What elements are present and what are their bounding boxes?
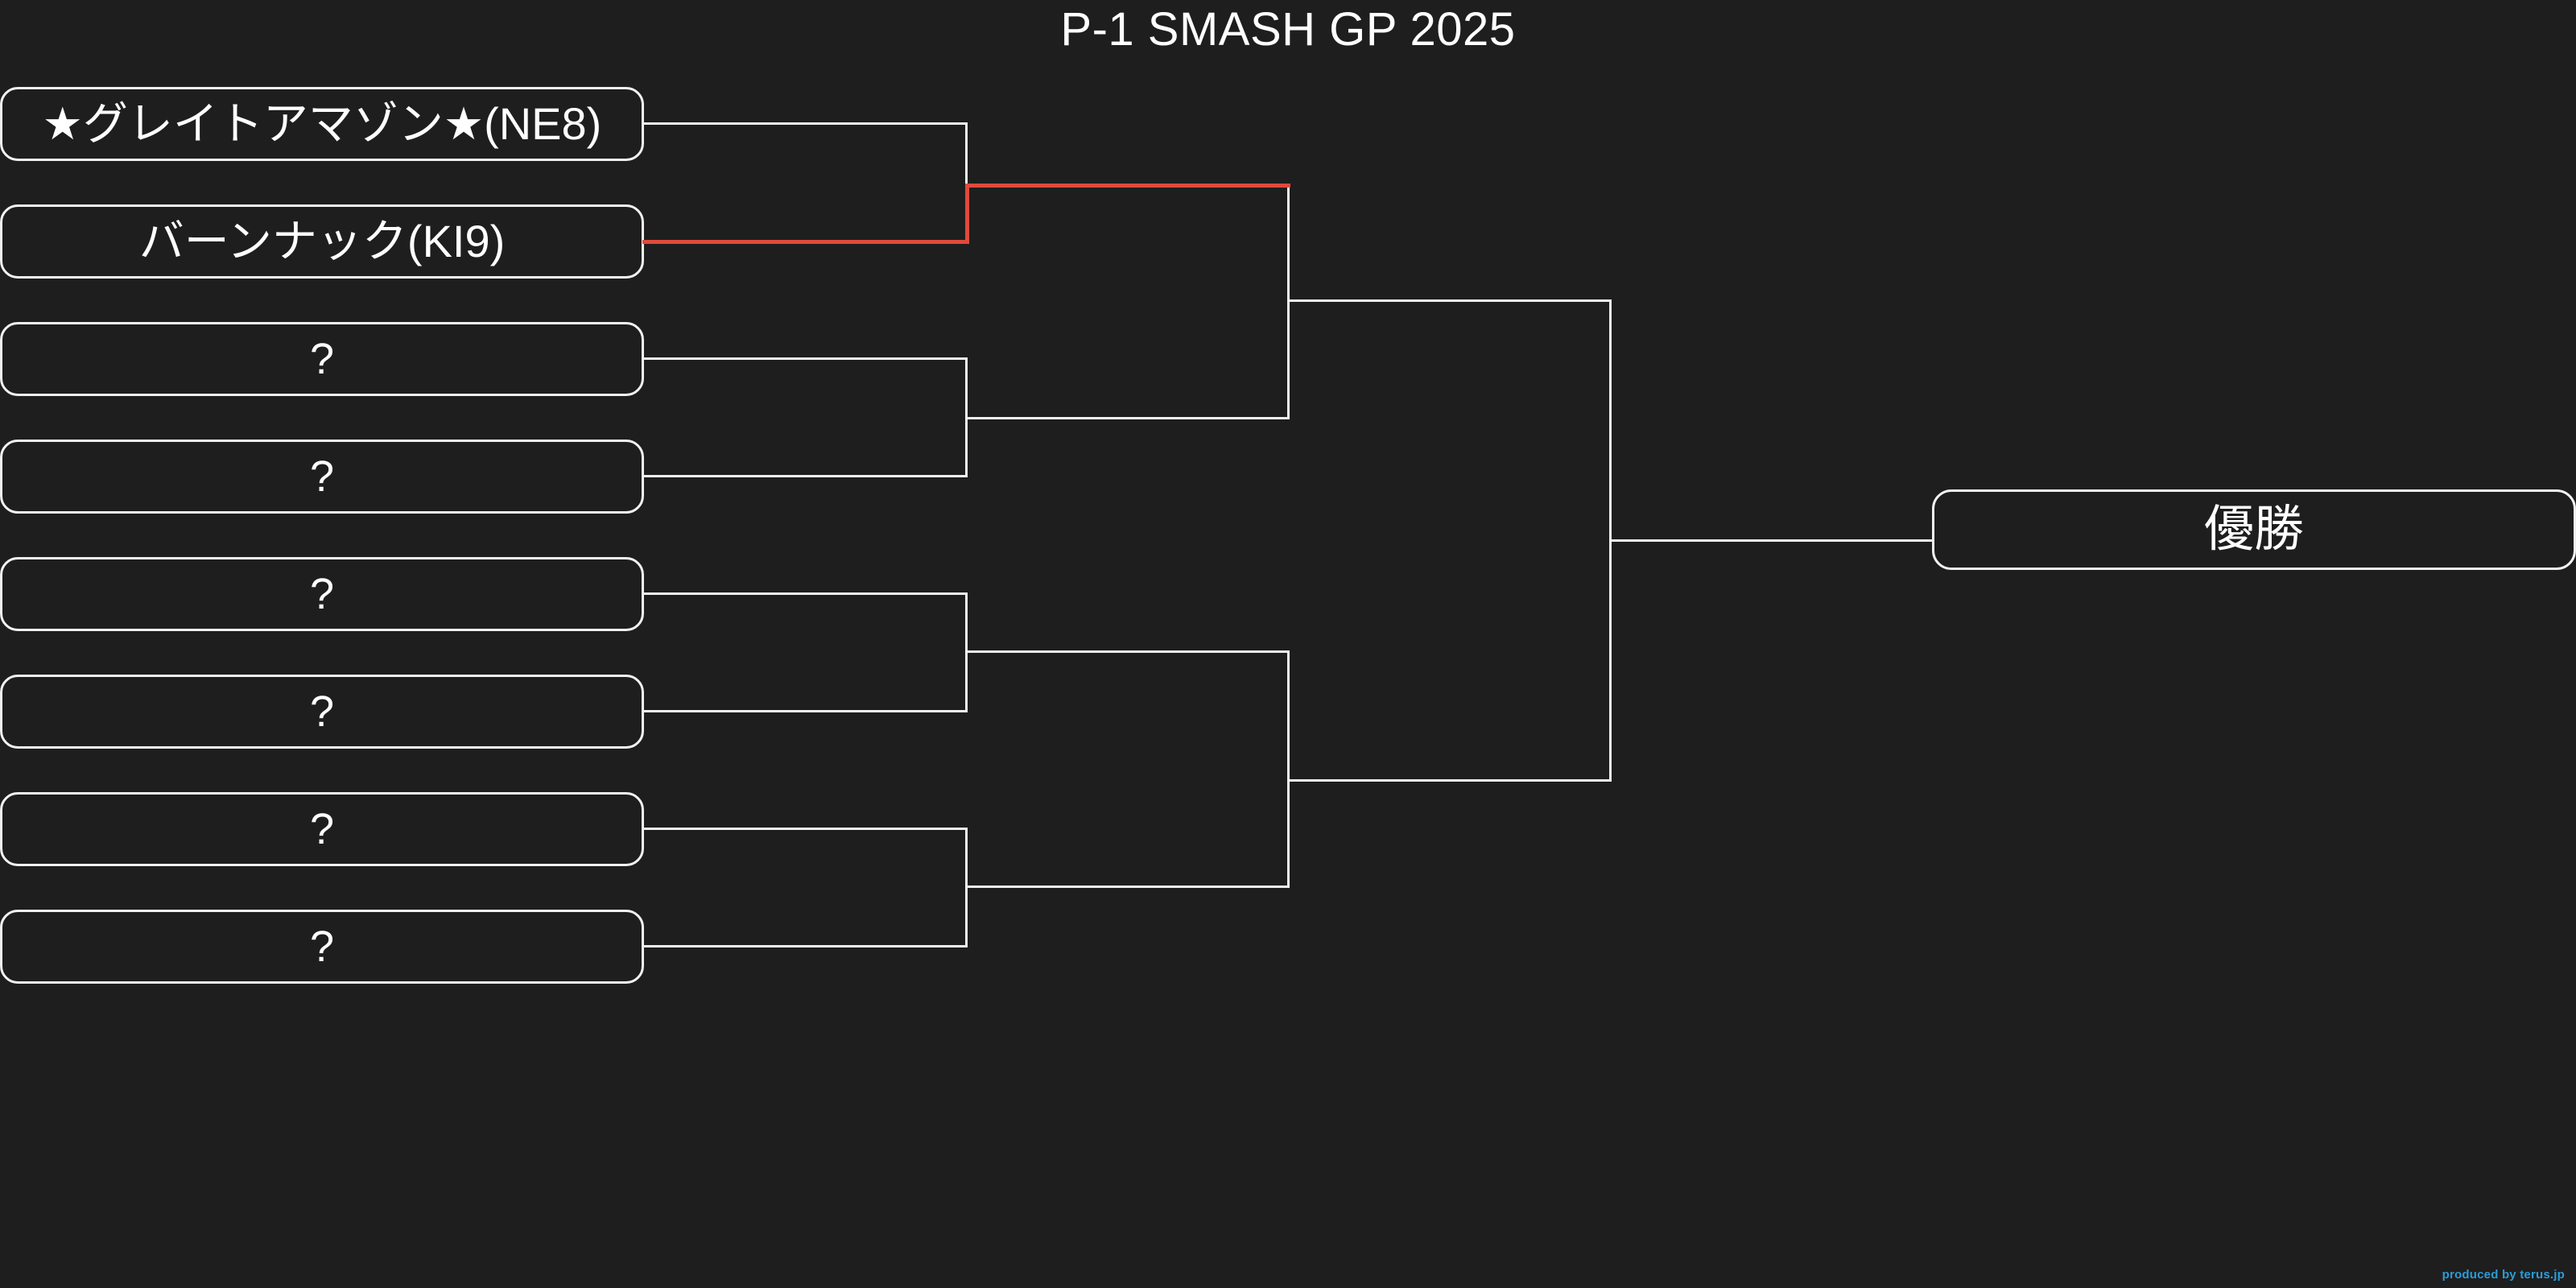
connector-matchA-vertical	[965, 122, 968, 187]
bracket-slot-8[interactable]: ?	[0, 910, 644, 984]
page-title: P-1 SMASH GP 2025	[0, 3, 2576, 56]
bracket-slot-champion-label: 優勝	[2196, 505, 2312, 555]
bracket-slot-4-label: ?	[302, 455, 342, 498]
connector-slot5-horizontal	[642, 592, 968, 595]
bracket-canvas: P-1 SMASH GP 2025 ★グレイトアマゾン★(NE8) バーンナック…	[0, 0, 2576, 1288]
connector-slot2-horizontal-winner	[642, 240, 969, 244]
bracket-slot-5-label: ?	[302, 572, 342, 616]
bracket-slot-6[interactable]: ?	[0, 675, 644, 749]
bracket-slot-1-label: ★グレイトアマゾン★(NE8)	[35, 101, 610, 147]
connector-final-bottom	[1287, 779, 1612, 782]
bracket-slot-1[interactable]: ★グレイトアマゾン★(NE8)	[0, 87, 644, 161]
connector-slot3-horizontal	[642, 357, 968, 360]
bracket-slot-champion[interactable]: 優勝	[1932, 489, 2576, 570]
connector-final-top	[1287, 299, 1612, 302]
bracket-slot-5[interactable]: ?	[0, 557, 644, 631]
bracket-slot-7[interactable]: ?	[0, 792, 644, 866]
connector-slot7-horizontal	[642, 828, 968, 830]
connector-semi1-bottom	[965, 417, 1290, 419]
bracket-slot-2-label: バーンナック(KI9)	[131, 219, 514, 264]
connector-semi2-bottom	[965, 885, 1290, 888]
connector-slot1-horizontal	[642, 122, 968, 125]
bracket-slot-3-label: ?	[302, 337, 342, 381]
bracket-slot-4[interactable]: ?	[0, 440, 644, 514]
connector-semi2-vertical	[1287, 650, 1290, 888]
bracket-slot-3[interactable]: ?	[0, 322, 644, 396]
connector-slot8-horizontal	[642, 945, 968, 947]
bracket-slot-6-label: ?	[302, 690, 342, 733]
connector-champion-horizontal	[1609, 539, 1934, 542]
connector-matchA-vertical-winner	[965, 184, 969, 244]
bracket-slot-2[interactable]: バーンナック(KI9)	[0, 204, 644, 279]
connector-semi1-top-winner	[965, 184, 1290, 188]
watermark-credit: produced by terus.jp	[2442, 1268, 2565, 1282]
connector-slot6-horizontal	[642, 710, 968, 712]
connector-slot4-horizontal	[642, 475, 968, 477]
bracket-slot-7-label: ?	[302, 807, 342, 851]
bracket-slot-8-label: ?	[302, 925, 342, 968]
connector-semi2-top	[965, 650, 1290, 653]
